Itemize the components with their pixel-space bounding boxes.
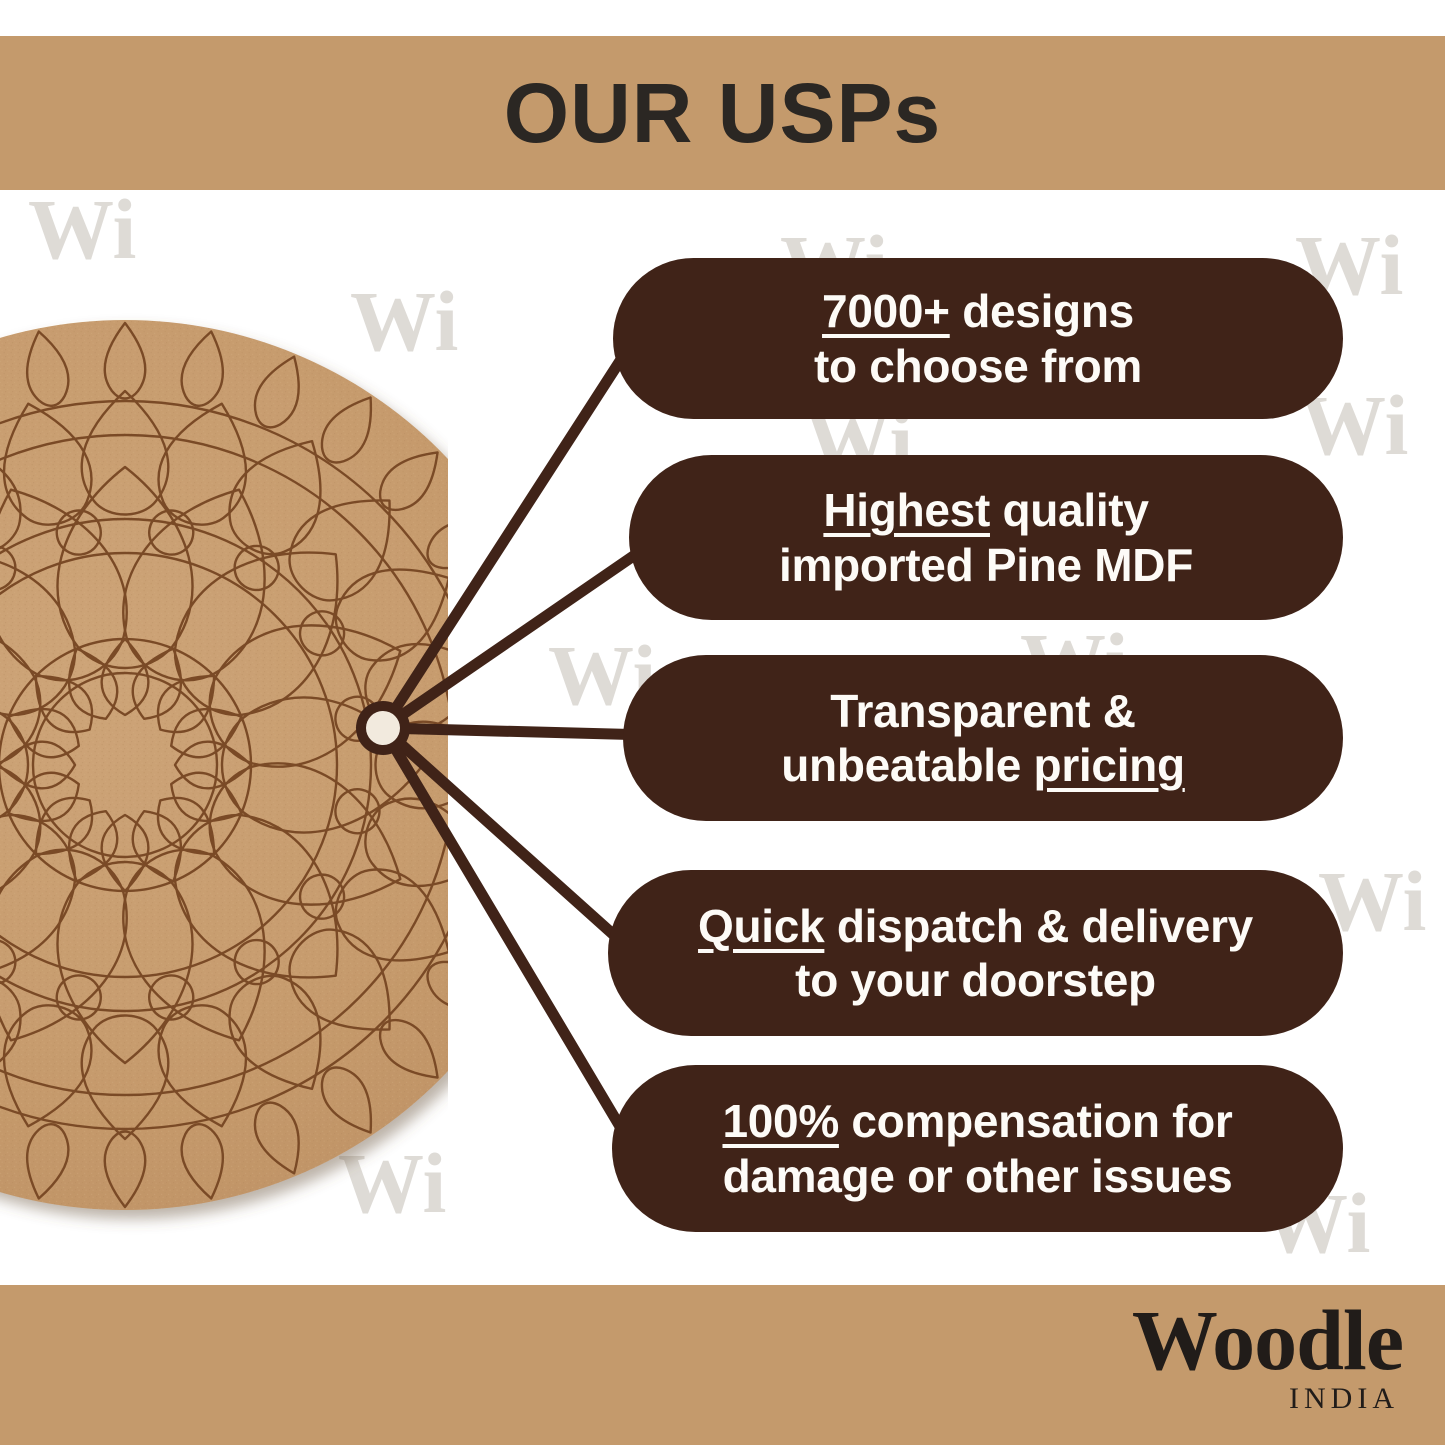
watermark-wi: Wi [28,186,136,272]
brand-logo: Woodle INDIA [1132,1300,1403,1414]
brand-name: Woodle [1132,1300,1403,1382]
usp-text: Quick dispatch & deliveryto your doorste… [698,899,1253,1008]
usp-text: Transparent &unbeatable pricing [781,684,1185,793]
usp-pill-material-quality[interactable]: Highest qualityimported Pine MDF [629,455,1343,620]
usp-text: Highest qualityimported Pine MDF [779,483,1193,592]
usp-text: 7000+ designsto choose from [814,284,1142,393]
usp-pill-designs-count[interactable]: 7000+ designsto choose from [613,258,1343,419]
brand-sub-label: INDIA [1132,1384,1399,1414]
usp-text: 100% compensation fordamage or other iss… [722,1094,1232,1203]
usp-pill-dispatch-delivery[interactable]: Quick dispatch & deliveryto your doorste… [608,870,1343,1036]
usp-infographic-page: WiWiWiWiWiWiWiWiWiWiWi [0,0,1445,1445]
header-band: OUR USPs [0,36,1445,190]
page-title: OUR USPs [504,71,941,155]
usp-pill-compensation[interactable]: 100% compensation fordamage or other iss… [612,1065,1343,1232]
usp-pill-pricing[interactable]: Transparent &unbeatable pricing [623,655,1343,821]
product-image-mandala-board [0,295,448,1235]
